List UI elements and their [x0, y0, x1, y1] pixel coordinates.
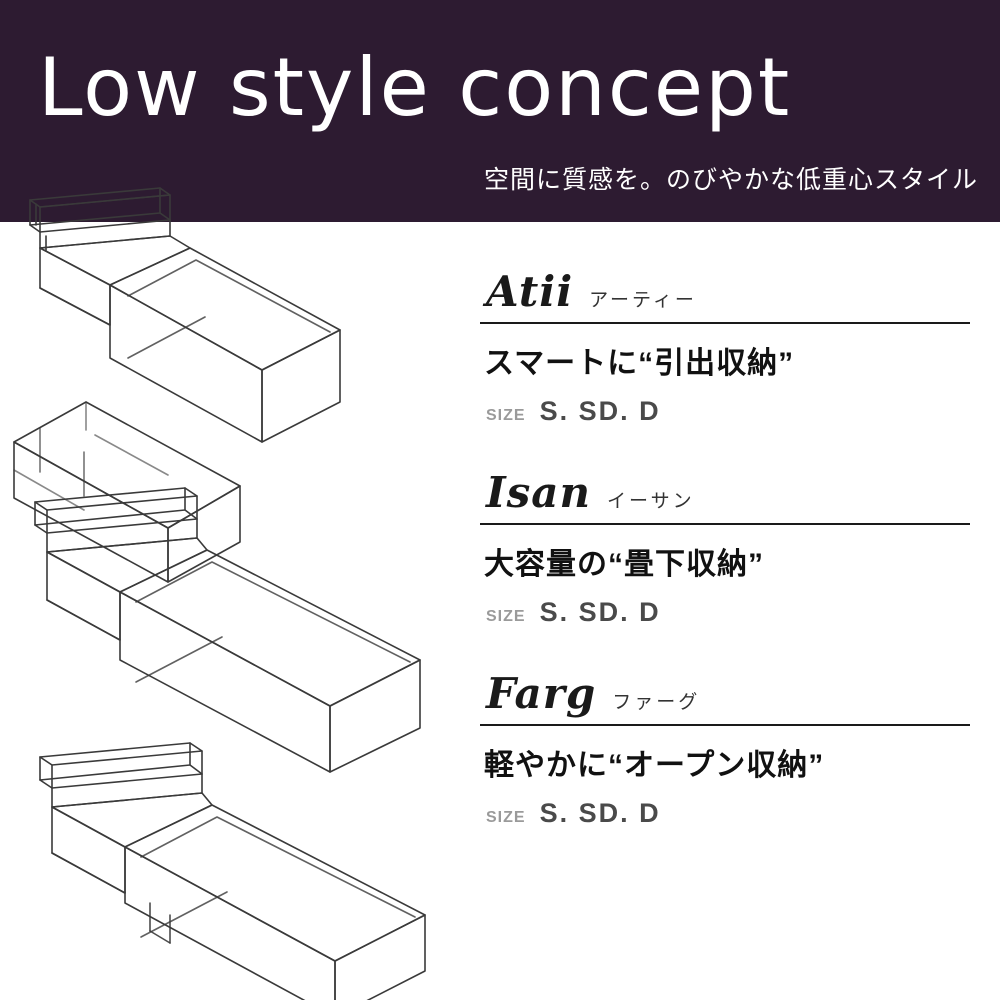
product-item-farg: Farg ファーグ 軽やかに“オープン収納” SIZE S. SD. D — [480, 672, 990, 829]
size-value: S. SD. D — [540, 396, 661, 427]
product-nameline: Atii アーティー — [480, 270, 990, 314]
product-name: Farg — [486, 672, 596, 716]
product-size-row: SIZE S. SD. D — [480, 597, 990, 628]
size-value: S. SD. D — [540, 798, 661, 829]
product-size-row: SIZE S. SD. D — [480, 396, 990, 427]
size-label: SIZE — [486, 608, 526, 626]
product-nameline: Isan イーサン — [480, 471, 990, 515]
product-nameline: Farg ファーグ — [480, 672, 990, 716]
size-value: S. SD. D — [540, 597, 661, 628]
product-list: Atii アーティー スマートに“引出収納” SIZE S. SD. D Isa… — [480, 270, 990, 873]
product-name: Isan — [486, 471, 591, 515]
page-subtitle: 空間に質感を。のびやかな低重心スタイル — [484, 160, 978, 196]
divider — [480, 322, 970, 324]
product-tagline: 大容量の“畳下収納” — [480, 539, 990, 583]
size-label: SIZE — [486, 809, 526, 827]
product-name: Atii — [486, 270, 573, 314]
page-title: Low style concept — [38, 48, 791, 128]
illustration-column — [0, 180, 480, 1000]
product-item-isan: Isan イーサン 大容量の“畳下収納” SIZE S. SD. D — [480, 471, 990, 628]
product-item-atii: Atii アーティー スマートに“引出収納” SIZE S. SD. D — [480, 270, 990, 427]
product-name-kana: イーサン — [607, 486, 695, 513]
bed-illustration-isan — [35, 488, 420, 792]
product-tagline: スマートに“引出収納” — [480, 338, 990, 382]
product-name-kana: ファーグ — [612, 687, 700, 714]
product-tagline: 軽やかに“オープン収納” — [480, 740, 990, 784]
product-name-kana: アーティー — [589, 285, 697, 312]
product-size-row: SIZE S. SD. D — [480, 798, 990, 829]
size-label: SIZE — [486, 407, 526, 425]
divider — [480, 523, 970, 525]
divider — [480, 724, 970, 726]
bed-illustration-farg — [40, 743, 425, 1000]
